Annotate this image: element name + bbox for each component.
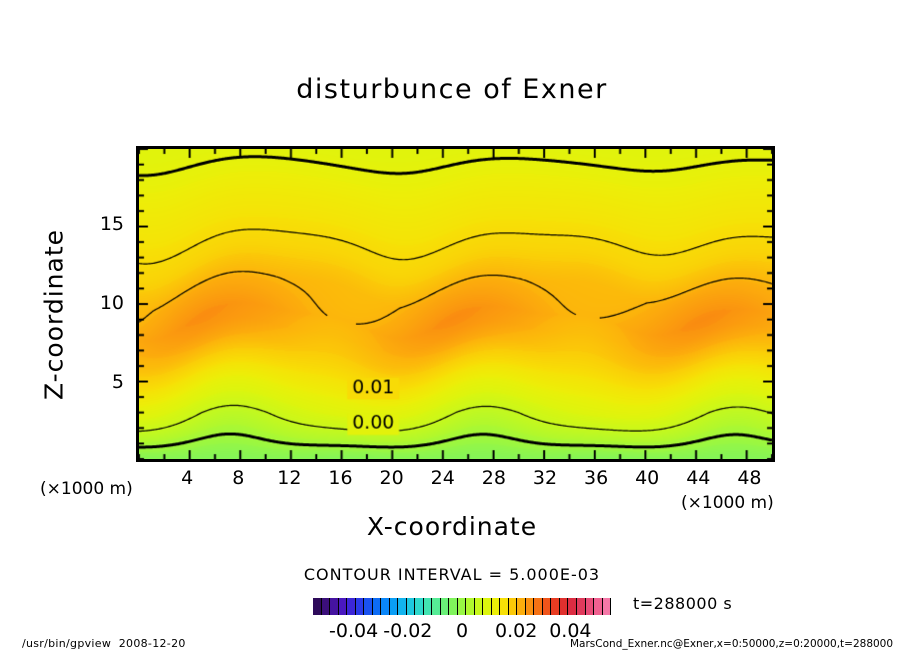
colorbar-band — [356, 598, 365, 615]
page-title: disturbunce of Exner — [0, 74, 904, 105]
colorbar-band — [534, 598, 543, 615]
y-tick-label: 5 — [74, 371, 124, 393]
colorbar-band — [313, 598, 322, 615]
colorbar-band — [330, 598, 339, 615]
footer-command: /usr/bin/gpview 2008-12-20 — [22, 637, 186, 650]
colorbar-band — [603, 598, 611, 615]
colorbar-band — [543, 598, 552, 615]
colorbar-band — [381, 598, 390, 615]
x-axis-unit: (×1000 m) — [681, 493, 774, 513]
colorbar — [313, 598, 611, 615]
colorbar-band — [475, 598, 484, 615]
y-axis-unit: (×1000 m) — [40, 479, 133, 499]
colorbar-band — [500, 598, 509, 615]
x-tick-label: 48 — [719, 467, 779, 489]
colorbar-band — [449, 598, 458, 615]
colorbar-band — [390, 598, 399, 615]
colorbar-band — [339, 598, 348, 615]
colorbar-band — [373, 598, 382, 615]
colorbar-band — [347, 598, 356, 615]
colorbar-band — [432, 598, 441, 615]
colorbar-band — [424, 598, 433, 615]
colorbar-band — [594, 598, 603, 615]
colorbar-band — [322, 598, 331, 615]
colorbar-band — [492, 598, 501, 615]
x-axis-label: X-coordinate — [0, 512, 904, 541]
colorbar-band — [466, 598, 475, 615]
time-label: t=288000 s — [633, 594, 732, 613]
contour-field — [139, 149, 772, 459]
colorbar-band — [509, 598, 518, 615]
plot-area — [136, 146, 775, 462]
colorbar-band — [517, 598, 526, 615]
colorbar-band — [577, 598, 586, 615]
colorbar-band — [407, 598, 416, 615]
y-tick-label: 15 — [74, 213, 124, 235]
y-tick-label: 10 — [74, 292, 124, 314]
colorbar-band — [415, 598, 424, 615]
colorbar-band — [441, 598, 450, 615]
colorbar-band — [458, 598, 467, 615]
footer-dataset: MarsCond_Exner.nc@Exner,x=0:50000,z=0:20… — [570, 638, 893, 650]
colorbar-band — [364, 598, 373, 615]
colorbar-band — [526, 598, 535, 615]
colorbar-band — [398, 598, 407, 615]
colorbar-band — [586, 598, 595, 615]
y-axis-label: Z-coordinate — [40, 215, 69, 415]
colorbar-band — [483, 598, 492, 615]
contour-interval-label: CONTOUR INTERVAL = 5.000E-03 — [0, 565, 904, 584]
colorbar-band — [568, 598, 577, 615]
colorbar-band — [560, 598, 569, 615]
colorbar-band — [551, 598, 560, 615]
